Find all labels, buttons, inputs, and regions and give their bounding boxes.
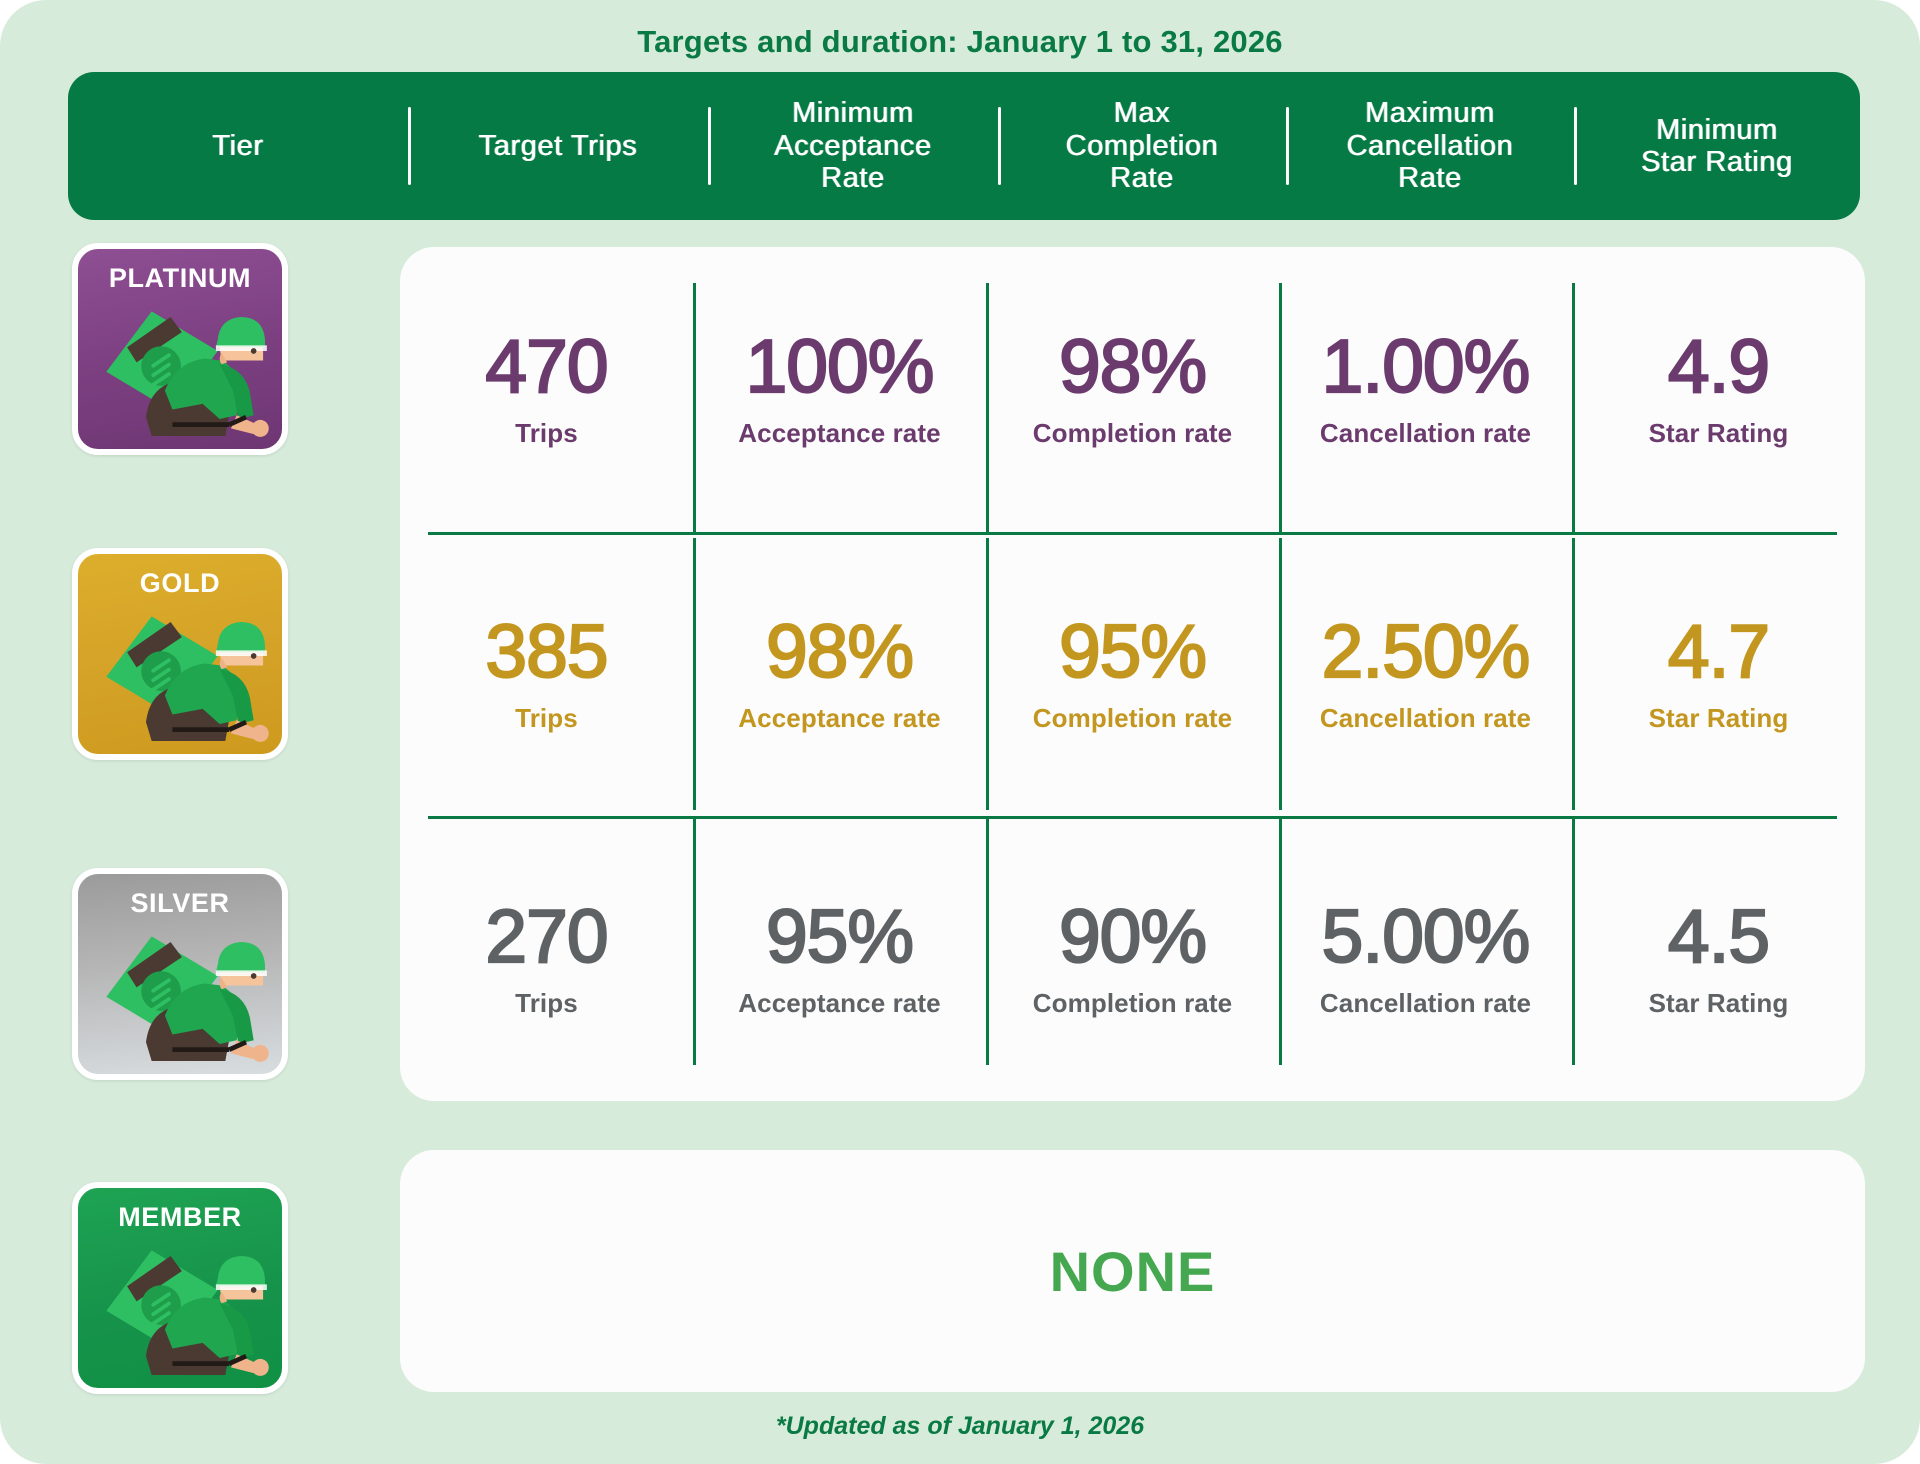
- cell-silver-star-rating: 4.5 Star Rating: [1572, 816, 1865, 1101]
- cell-silver-acceptance-rate: 95% Acceptance rate: [693, 816, 986, 1101]
- cell-platinum-acceptance-rate: 100% Acceptance rate: [693, 247, 986, 532]
- cell-silver-completion-rate: 90% Completion rate: [986, 816, 1279, 1101]
- max-completion-line-1: Max: [1066, 97, 1219, 129]
- tier-badge-gold: GOLD: [72, 548, 288, 760]
- min-acceptance-line-3: Rate: [774, 162, 932, 194]
- value-silver-completion-rate: 90%: [1059, 899, 1206, 974]
- member-none-label: NONE: [1050, 1239, 1216, 1304]
- tier-badge-silver-label: SILVER: [78, 888, 282, 919]
- cell-gold-completion-rate: 95% Completion rate: [986, 532, 1279, 817]
- value-platinum-completion-rate: 98%: [1059, 329, 1206, 404]
- column-header-min-acceptance-rate: Minimum Acceptance Rate: [708, 72, 998, 220]
- label-platinum-completion-rate: Completion rate: [1033, 418, 1232, 449]
- label-gold-cancellation-rate: Cancellation rate: [1320, 703, 1531, 734]
- value-silver-acceptance-rate: 95%: [766, 899, 913, 974]
- max-cancellation-line-2: Cancellation: [1347, 130, 1514, 162]
- column-header-tier-label: Tier: [212, 130, 263, 162]
- label-silver-star-rating: Star Rating: [1649, 988, 1789, 1019]
- tier-badge-member: MEMBER: [72, 1182, 288, 1394]
- label-gold-star-rating: Star Rating: [1649, 703, 1789, 734]
- column-header-max-cancellation-rate: Maximum Cancellation Rate: [1286, 72, 1574, 220]
- value-silver-star-rating: 4.5: [1668, 899, 1769, 974]
- label-silver-completion-rate: Completion rate: [1033, 988, 1232, 1019]
- min-acceptance-line-1: Minimum: [774, 97, 932, 129]
- table-row: 470 Trips 100% Acceptance rate 98% Compl…: [400, 247, 1865, 532]
- label-gold-target-trips: Trips: [515, 703, 578, 734]
- cell-silver-cancellation-rate: 5.00% Cancellation rate: [1279, 816, 1572, 1101]
- cell-gold-target-trips: 385 Trips: [400, 532, 693, 817]
- label-platinum-target-trips: Trips: [515, 418, 578, 449]
- value-gold-cancellation-rate: 2.50%: [1322, 614, 1530, 689]
- page-title: Targets and duration: January 1 to 31, 2…: [0, 24, 1920, 60]
- min-acceptance-line-2: Acceptance: [774, 130, 932, 162]
- max-cancellation-line-3: Rate: [1347, 162, 1514, 194]
- column-header-target-trips-label: Target Trips: [479, 130, 638, 162]
- cell-silver-target-trips: 270 Trips: [400, 816, 693, 1101]
- cell-gold-star-rating: 4.7 Star Rating: [1572, 532, 1865, 817]
- targets-table-card: 470 Trips 100% Acceptance rate 98% Compl…: [400, 247, 1865, 1101]
- label-platinum-star-rating: Star Rating: [1649, 418, 1789, 449]
- column-header-min-star-rating: Minimum Star Rating: [1574, 72, 1860, 220]
- value-gold-completion-rate: 95%: [1059, 614, 1206, 689]
- label-platinum-cancellation-rate: Cancellation rate: [1320, 418, 1531, 449]
- cell-gold-acceptance-rate: 98% Acceptance rate: [693, 532, 986, 817]
- tier-badge-member-label: MEMBER: [78, 1202, 282, 1233]
- label-silver-cancellation-rate: Cancellation rate: [1320, 988, 1531, 1019]
- max-completion-line-3: Rate: [1066, 162, 1219, 194]
- value-gold-star-rating: 4.7: [1668, 614, 1769, 689]
- label-gold-acceptance-rate: Acceptance rate: [738, 703, 940, 734]
- cell-platinum-completion-rate: 98% Completion rate: [986, 247, 1279, 532]
- value-platinum-star-rating: 4.9: [1668, 329, 1769, 404]
- cell-platinum-target-trips: 470 Trips: [400, 247, 693, 532]
- value-silver-cancellation-rate: 5.00%: [1322, 899, 1530, 974]
- label-silver-acceptance-rate: Acceptance rate: [738, 988, 940, 1019]
- tier-badge-platinum-label: PLATINUM: [78, 263, 282, 294]
- tier-badge-platinum: PLATINUM: [72, 243, 288, 455]
- tier-badge-silver: SILVER: [72, 868, 288, 1080]
- cell-platinum-star-rating: 4.9 Star Rating: [1572, 247, 1865, 532]
- value-gold-target-trips: 385: [485, 614, 607, 689]
- column-header-max-completion-rate: Max Completion Rate: [998, 72, 1286, 220]
- min-star-line-1: Minimum: [1641, 114, 1793, 146]
- column-header-tier: Tier: [68, 72, 408, 220]
- value-gold-acceptance-rate: 98%: [766, 614, 913, 689]
- member-targets-card: NONE: [400, 1150, 1865, 1392]
- footnote: *Updated as of January 1, 2026: [0, 1412, 1920, 1441]
- value-platinum-target-trips: 470: [485, 329, 607, 404]
- max-completion-line-2: Completion: [1066, 130, 1219, 162]
- table-row: 385 Trips 98% Acceptance rate 95% Comple…: [400, 532, 1865, 817]
- targets-grid: 470 Trips 100% Acceptance rate 98% Compl…: [400, 247, 1865, 1101]
- tier-targets-infographic: Targets and duration: January 1 to 31, 2…: [0, 0, 1920, 1464]
- cell-gold-cancellation-rate: 2.50% Cancellation rate: [1279, 532, 1572, 817]
- table-row: 270 Trips 95% Acceptance rate 90% Comple…: [400, 816, 1865, 1101]
- value-platinum-acceptance-rate: 100%: [746, 329, 934, 404]
- label-silver-target-trips: Trips: [515, 988, 578, 1019]
- table-header-bar: Tier Target Trips Minimum Acceptance Rat…: [68, 72, 1860, 220]
- column-header-target-trips: Target Trips: [408, 72, 708, 220]
- tier-badge-gold-label: GOLD: [78, 568, 282, 599]
- value-platinum-cancellation-rate: 1.00%: [1322, 329, 1530, 404]
- cell-platinum-cancellation-rate: 1.00% Cancellation rate: [1279, 247, 1572, 532]
- max-cancellation-line-1: Maximum: [1347, 97, 1514, 129]
- min-star-line-2: Star Rating: [1641, 146, 1793, 178]
- label-platinum-acceptance-rate: Acceptance rate: [738, 418, 940, 449]
- value-silver-target-trips: 270: [485, 899, 607, 974]
- label-gold-completion-rate: Completion rate: [1033, 703, 1232, 734]
